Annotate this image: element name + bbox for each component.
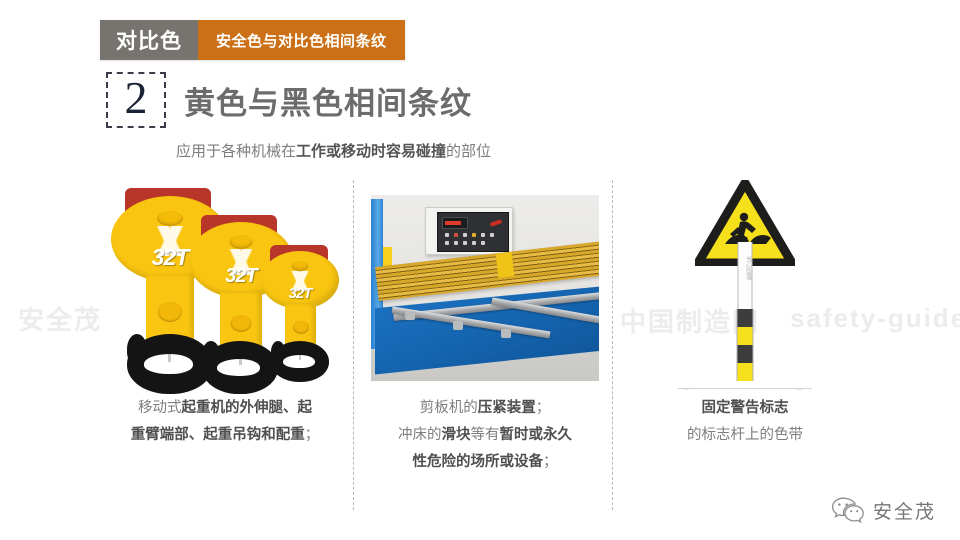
subtitle-emphasis: 工作或移动时容易碰撞 (296, 143, 446, 160)
caption-2-plain-2: 冲床的 (398, 427, 442, 443)
rail-support-2 (453, 321, 463, 330)
dimension-tick-right: — (797, 387, 802, 393)
digital-display (442, 217, 468, 229)
caption-1-line-1: 移动式起重机的外伸腿、起 (106, 395, 344, 422)
hook-nut-medium (231, 315, 252, 332)
emergency-stop-lever (490, 219, 503, 227)
caption-3-bold: 固定警告标志 (702, 400, 789, 416)
column-divider-1 (353, 180, 354, 510)
example-column-1: 32T 32T (100, 180, 350, 510)
caption-2-mid: 等有 (471, 427, 500, 443)
caption-2-bold-3: 暂时或永久 (500, 427, 573, 443)
example-column-3: 当心坠落 — — 固定警告标志 的标志杆上的色带 (620, 180, 870, 510)
example-caption-1: 移动式起重机的外伸腿、起 重臂端部、起重吊钩和配重； (100, 395, 350, 449)
hook-disc-small: 32T (261, 251, 339, 309)
caption-3-line-2: 的标志杆上的色带 (626, 422, 864, 449)
examples-row: 32T 32T (0, 180, 960, 510)
rail-support-3 (501, 329, 511, 338)
section-tag-group: 对比色 安全色与对比色相间条纹 (100, 20, 405, 60)
hook-shank-small (285, 303, 316, 347)
hook-shank-medium (220, 291, 262, 349)
hook-tonnage-small: 32T (261, 285, 339, 302)
category-tag: 对比色 (100, 20, 198, 60)
hook-boss-large (157, 211, 183, 226)
caption-2-plain: 剪板机的 (420, 400, 478, 416)
brand-name: 安全茂 (873, 497, 936, 524)
caption-2-line-2: 冲床的滑块等有暂时或永久 (366, 422, 604, 449)
caption-2-tail: ； (536, 400, 551, 416)
caption-3-plain: 的标志杆上的色带 (687, 427, 803, 443)
warning-sign-post-photo: 当心坠落 — — (620, 180, 870, 395)
caption-2-bold-4: 性危险的场所或设备 (413, 454, 544, 470)
hook-tip-large (127, 334, 147, 364)
page-subtitle: 应用于各种机械在工作或移动时容易碰撞的部位 (176, 140, 491, 161)
page-heading: 2 黄色与黑色相间条纹 (106, 72, 472, 128)
section-number: 2 (125, 75, 148, 121)
topic-tag: 安全色与对比色相间条纹 (198, 20, 405, 60)
caption-2-line-1: 剪板机的压紧装置； (366, 395, 604, 422)
caption-1-bold: 起重机的外伸腿、起 (182, 400, 313, 416)
caption-1-tail: ； (305, 427, 320, 443)
hook-tip-medium (202, 341, 220, 368)
pole-yellow-black-bands (737, 309, 754, 381)
hook-boss-small (291, 261, 308, 271)
caption-1-plain: 移动式 (138, 400, 182, 416)
caption-1-bold-2: 重臂端部、起重吊钩和配重 (131, 427, 305, 443)
hook-boss-medium (230, 235, 253, 249)
caption-3-line-1: 固定警告标志 (626, 395, 864, 422)
hook-shank-large (146, 274, 194, 342)
caption-2-bold: 压紧装置 (478, 400, 536, 416)
section-number-box: 2 (106, 72, 166, 128)
hook-nut-small (293, 321, 309, 334)
subtitle-lead: 应用于各种机械在 (176, 143, 296, 160)
crane-hooks-photo: 32T 32T (100, 180, 350, 395)
guard-clamp-block (496, 252, 515, 278)
example-caption-3: 固定警告标志 的标志杆上的色带 (620, 395, 870, 449)
example-column-2: 剪板机的压紧装置； 冲床的滑块等有暂时或永久 性危险的场所或设备； (360, 180, 610, 510)
control-panel-face (437, 212, 509, 252)
control-buttons (442, 231, 504, 247)
caption-1-line-2: 重臂端部、起重吊钩和配重； (106, 422, 344, 449)
dimension-tick-left: — (684, 387, 689, 393)
subtitle-tail: 的部位 (446, 143, 491, 160)
footer-brand: 安全茂 (831, 496, 936, 524)
warning-sign-illustration: 当心坠落 — — (670, 180, 820, 395)
shearing-machine-illustration (371, 195, 599, 381)
machine-control-panel (425, 207, 513, 255)
caption-2-bold-2: 滑块 (442, 427, 471, 443)
example-caption-2: 剪板机的压紧装置； 冲床的滑块等有暂时或永久 性危险的场所或设备； (360, 395, 610, 475)
caption-2-tail-2: ； (543, 454, 558, 470)
crane-hooks-illustration: 32T 32T (111, 183, 339, 393)
sign-pole-text: 当心坠落 (739, 256, 752, 280)
hook-tip-small (271, 341, 285, 362)
wechat-icon (831, 496, 865, 524)
page-title: 黄色与黑色相间条纹 (184, 78, 472, 123)
caption-2-line-3: 性危险的场所或设备； (366, 449, 604, 476)
crane-hook-small: 32T (261, 245, 339, 393)
shearing-machine-photo (360, 180, 610, 395)
rail-support-1 (405, 311, 415, 320)
column-divider-2 (612, 180, 613, 510)
hook-nut-large (158, 302, 182, 322)
ground-line (678, 388, 812, 389)
